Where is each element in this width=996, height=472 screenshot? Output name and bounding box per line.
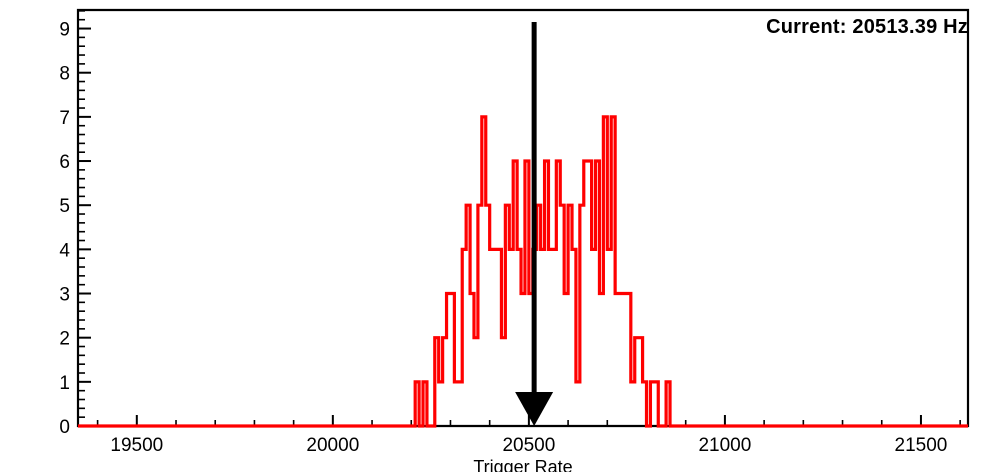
axis-labels: 01234567891950020000205002100021500Trigg… [59,20,947,472]
x-tick-label: 20500 [502,435,555,456]
y-tick-label: 1 [59,373,70,394]
x-axis-title: Trigger Rate [473,457,572,472]
y-tick-label: 3 [59,285,70,306]
x-tick-label: 21000 [698,435,751,456]
y-tick-label: 5 [59,196,70,217]
root-histogram-canvas: Current: 20513.39 Hz 0123456789195002000… [0,0,996,472]
axis-ticks [78,11,960,426]
y-tick-label: 7 [59,108,70,129]
y-tick-label: 6 [59,152,70,173]
trigger-rate-histogram: 01234567891950020000205002100021500Trigg… [0,0,996,472]
x-tick-label: 21500 [895,435,948,456]
y-tick-label: 9 [59,20,70,41]
histogram-series [78,117,968,426]
y-tick-label: 0 [59,417,70,438]
y-tick-label: 2 [59,329,70,350]
axis-frame [78,10,968,426]
y-tick-label: 4 [59,240,70,261]
y-tick-label: 8 [59,64,70,85]
x-tick-label: 19500 [110,435,163,456]
x-tick-label: 20000 [306,435,359,456]
